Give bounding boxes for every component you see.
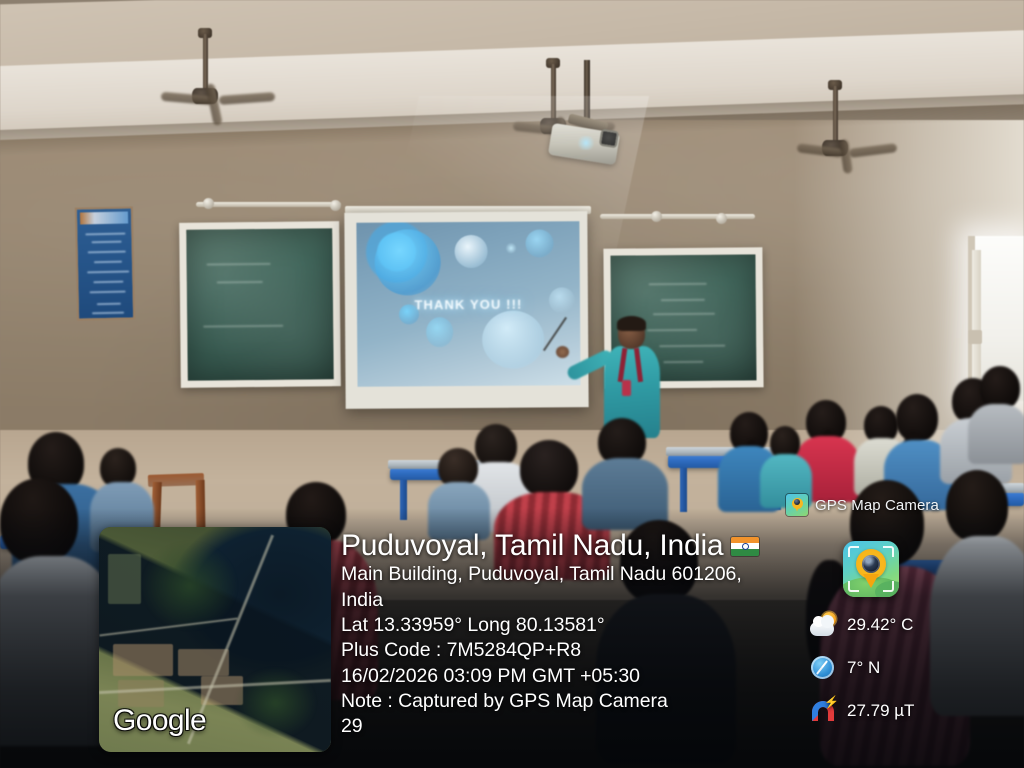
compass-icon bbox=[810, 655, 838, 681]
gps-stamp-text-block: Puduvoyal, Tamil Nadu, India Main Buildi… bbox=[341, 530, 811, 740]
projected-slide: THANK YOU !!! bbox=[356, 221, 580, 387]
focus-bracket bbox=[883, 546, 894, 557]
sensor-row-magnetic: ⚡ 27.79 µT bbox=[810, 698, 1020, 724]
rail-knob bbox=[203, 198, 214, 209]
desk-leg bbox=[400, 480, 407, 520]
map-parcel bbox=[113, 644, 173, 676]
slide-title: THANK YOU !!! bbox=[357, 297, 580, 314]
focus-bracket bbox=[883, 581, 894, 592]
wall-poster bbox=[75, 206, 135, 320]
rail-knob bbox=[716, 213, 727, 224]
focus-bracket bbox=[848, 581, 859, 592]
satellite-imagery: Google bbox=[99, 527, 331, 752]
map-parcel bbox=[108, 554, 140, 604]
focus-bracket bbox=[848, 546, 859, 557]
temperature-value: 29.42° C bbox=[847, 615, 913, 635]
stamp-timestamp: 16/02/2026 03:09 PM GMT +05:30 bbox=[341, 664, 811, 689]
stamp-title-row: Puduvoyal, Tamil Nadu, India bbox=[341, 530, 811, 562]
sensor-row-temperature: 29.42° C bbox=[810, 612, 1020, 638]
stamp-note-line-1: Note : Captured by GPS Map Camera bbox=[341, 689, 811, 714]
wooden-chair-leg bbox=[196, 480, 206, 528]
rail-knob bbox=[651, 211, 662, 222]
stamp-address-line-1: Main Building, Puduvoyal, Tamil Nadu 601… bbox=[341, 562, 811, 587]
google-attribution: Google bbox=[113, 704, 206, 738]
screenshot-root: THANK YOU !!! bbox=[0, 0, 1024, 768]
magnetic-field-value: 27.79 µT bbox=[847, 701, 914, 721]
map-vegetation bbox=[234, 667, 318, 739]
magnet-icon: ⚡ bbox=[810, 698, 838, 724]
gps-map-camera-app-icon-large bbox=[843, 541, 899, 597]
stamp-location-title: Puduvoyal, Tamil Nadu, India bbox=[341, 530, 723, 562]
india-flag-icon bbox=[731, 537, 759, 556]
sensor-readings: 29.42° C 7° N ⚡ 27.79 µT bbox=[810, 612, 1020, 724]
gps-map-camera-watermark: GPS Map Camera bbox=[786, 494, 939, 516]
rail-knob bbox=[330, 200, 341, 211]
stamp-coordinates: Lat 13.33959° Long 80.13581° bbox=[341, 613, 811, 638]
gps-map-camera-app-icon bbox=[786, 494, 808, 516]
map-parcel bbox=[118, 680, 164, 707]
map-thumbnail[interactable]: Google bbox=[99, 527, 331, 752]
stamp-address-line-2: India bbox=[341, 588, 811, 613]
desk-leg bbox=[680, 468, 687, 512]
blackboard-left bbox=[179, 221, 341, 388]
compass-value: 7° N bbox=[847, 658, 880, 678]
weather-sun-cloud-icon bbox=[810, 612, 838, 638]
curtain-rail bbox=[196, 202, 341, 207]
projection-screen: THANK YOU !!! bbox=[344, 211, 588, 409]
stamp-note-line-2: 29 bbox=[341, 714, 811, 739]
watermark-label: GPS Map Camera bbox=[815, 497, 939, 514]
stamp-plus-code: Plus Code : 7M5284QP+R8 bbox=[341, 638, 811, 663]
camera-lens-shape bbox=[862, 555, 880, 573]
curtain-rail bbox=[600, 214, 755, 219]
sensor-row-compass: 7° N bbox=[810, 655, 1020, 681]
window-latch bbox=[968, 330, 982, 344]
map-vegetation bbox=[141, 541, 238, 631]
